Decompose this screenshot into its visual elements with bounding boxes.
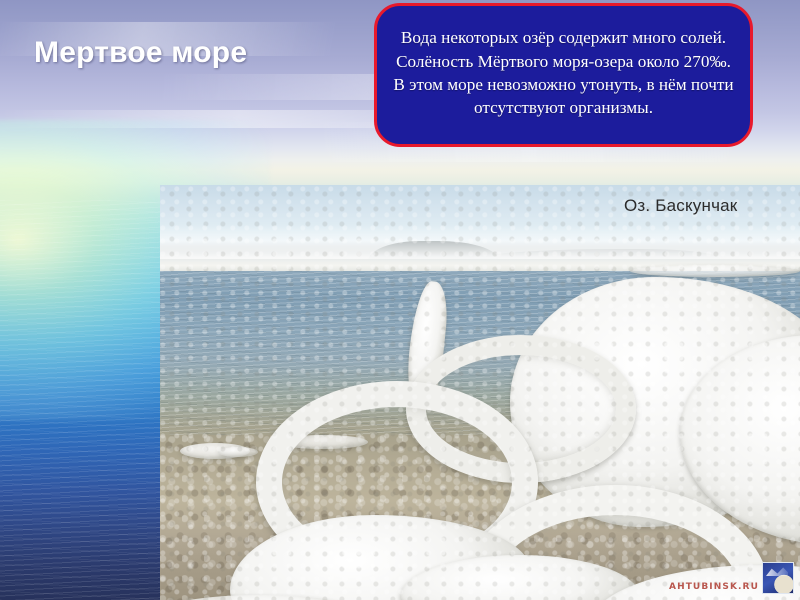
slide-canvas: Мертвое море Вода некоторых озёр содержи… (0, 0, 800, 600)
photo-salt-crust-far (630, 265, 800, 277)
lake-baskunchak-photo (160, 185, 800, 600)
ahtubinsk-logo-icon (762, 562, 794, 594)
photo-salt-nub-left-small (218, 447, 258, 457)
watermark: AHTUBINSK.RU (669, 562, 794, 594)
fact-callout-box: Вода некоторых озёр содержит много солей… (374, 3, 753, 147)
photo-caption: Оз. Баскунчак (624, 196, 737, 216)
watermark-text: AHTUBINSK.RU (669, 582, 759, 592)
fact-callout-text: Вода некоторых озёр содержит много солей… (393, 26, 734, 120)
page-title: Мертвое море (34, 36, 247, 70)
